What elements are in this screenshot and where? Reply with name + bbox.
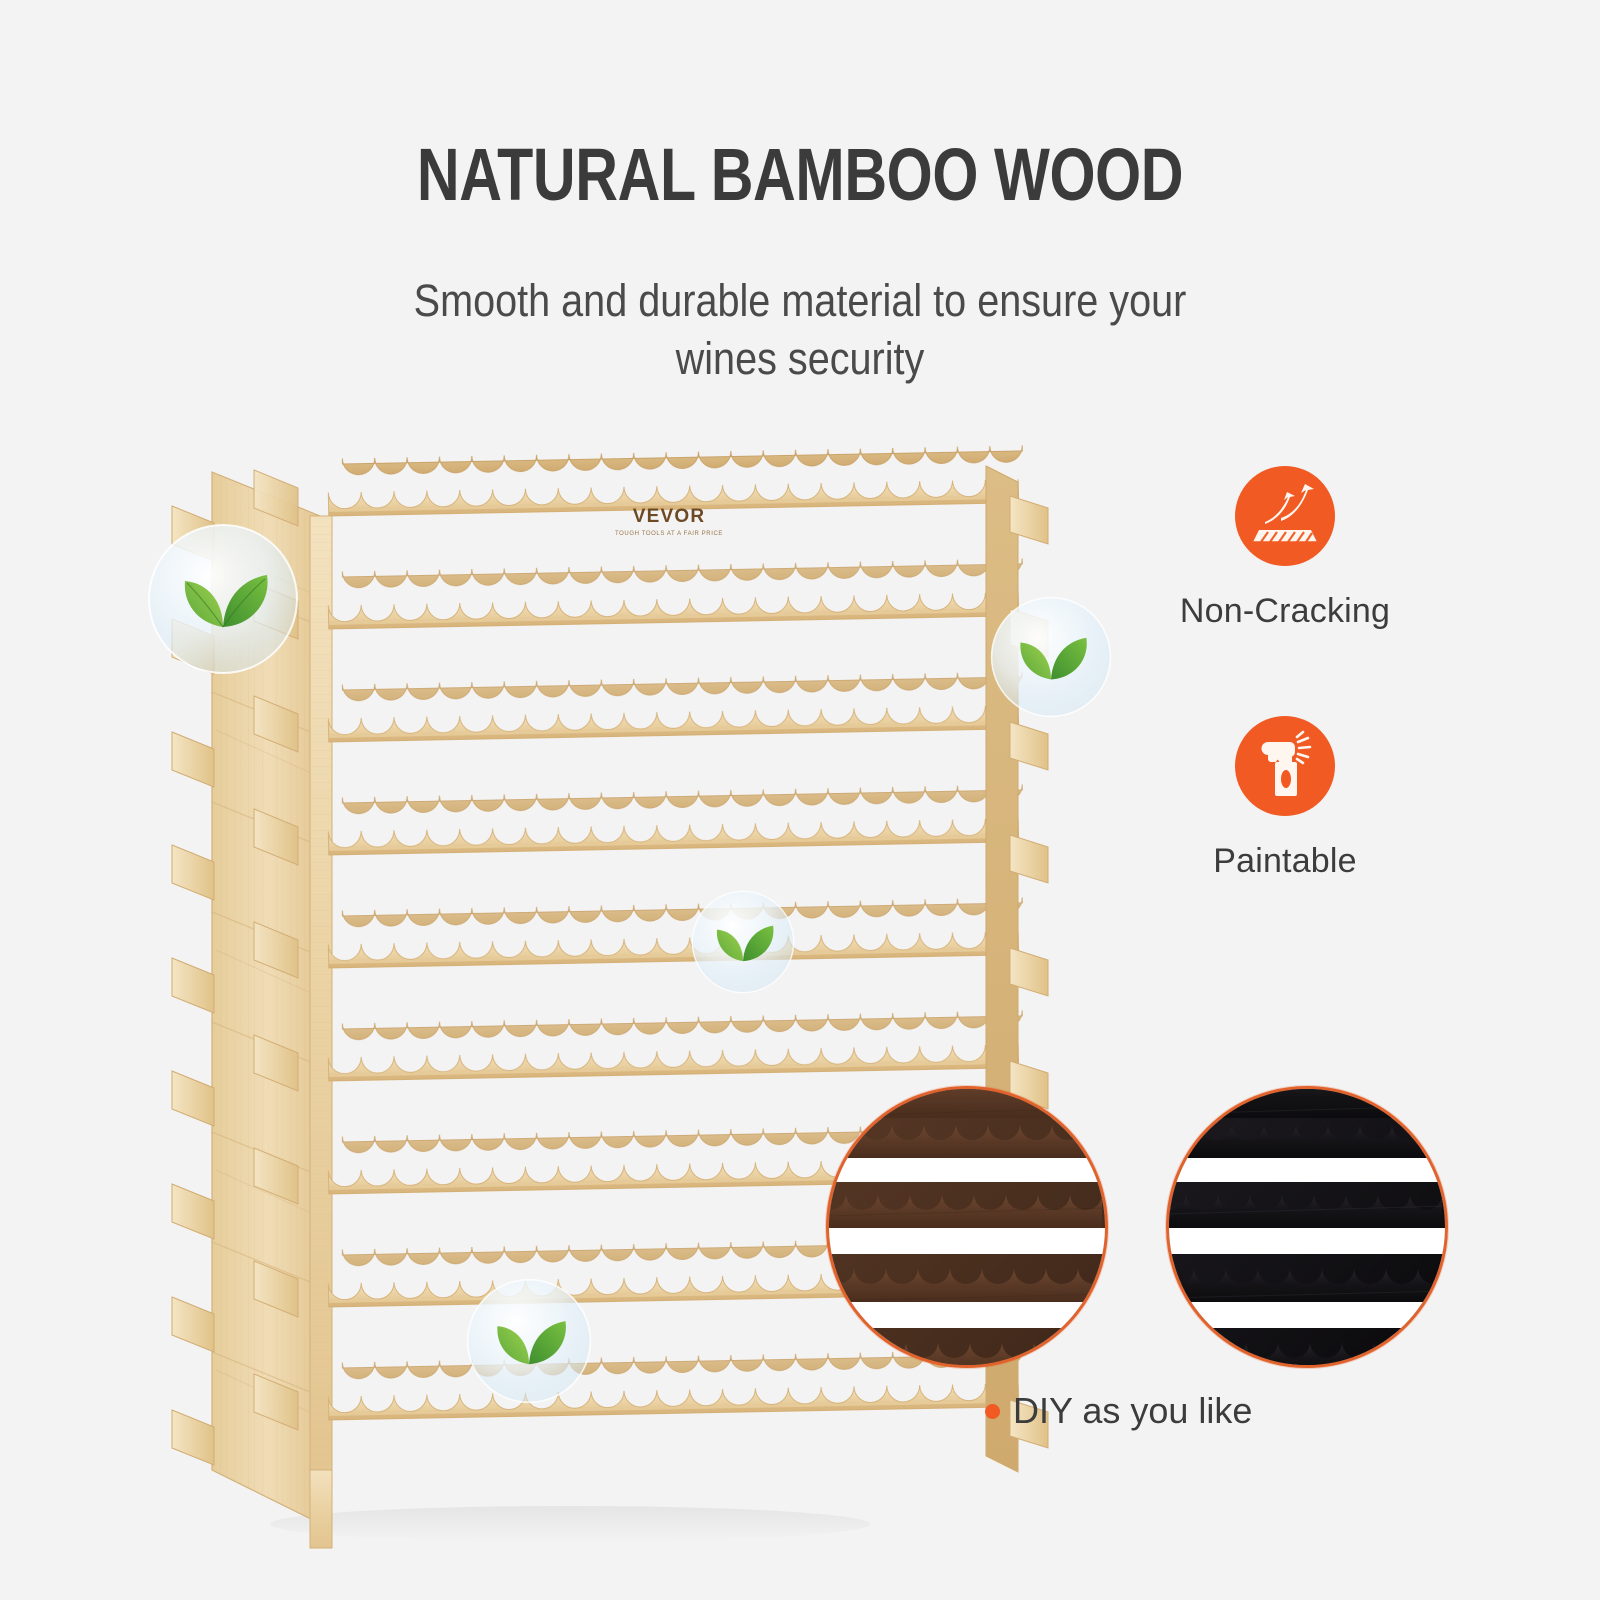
bullet-dot-icon	[985, 1404, 1000, 1419]
brand-name: VEVOR	[633, 506, 706, 527]
rack-shelf-rail	[328, 1044, 1018, 1081]
page-subtitle: Smooth and durable material to ensure yo…	[307, 272, 1293, 387]
subtitle-line-2: wines security	[676, 333, 925, 384]
plank-with-arrows-icon	[1235, 466, 1335, 566]
product-infographic: NATURAL BAMBOO WOOD Smooth and durable m…	[0, 0, 1600, 1600]
leaf-bubble-icon	[990, 596, 1112, 718]
rack-front-left-post	[310, 516, 332, 1528]
rack-back-rail	[342, 558, 1022, 588]
rack-back-rail	[342, 1010, 1022, 1040]
non-cracking-badge	[1235, 466, 1335, 566]
rack-shelf-rail	[328, 931, 1018, 968]
variant-inset-walnut[interactable]	[826, 1086, 1108, 1368]
rack-back-rail	[342, 784, 1022, 814]
feature-paintable: Paintable	[1135, 716, 1435, 881]
feature-non-cracking: Non-Cracking	[1135, 466, 1435, 631]
rack-shelf-rail	[328, 705, 1018, 742]
leaf-bubble-icon	[147, 523, 299, 675]
rack-shelf-rail	[328, 818, 1018, 855]
page-title: NATURAL BAMBOO WOOD	[160, 132, 1440, 217]
variant-inset-black[interactable]	[1166, 1086, 1448, 1368]
rack-back-rail	[342, 445, 1022, 475]
rack-shelf-rail	[328, 592, 1018, 629]
black-rack-closeup	[1166, 1086, 1448, 1368]
walnut-rack-closeup	[826, 1086, 1108, 1368]
subtitle-line-1: Smooth and durable material to ensure yo…	[414, 275, 1187, 326]
rack-front-leg	[310, 1470, 332, 1548]
spray-bottle-icon	[1235, 716, 1335, 816]
diy-caption-text: DIY as you like	[1013, 1390, 1252, 1432]
feature-label: Paintable	[1135, 842, 1435, 881]
diy-caption: DIY as you like	[985, 1390, 1252, 1432]
rack-back-rail	[342, 897, 1022, 927]
brand-tagline: TOUGH TOOLS AT A FAIR PRICE	[615, 531, 723, 537]
rack-back-rail	[342, 671, 1022, 701]
leaf-bubble-icon	[691, 890, 795, 994]
leaf-bubble-icon	[466, 1278, 592, 1404]
paintable-badge	[1235, 716, 1335, 816]
feature-label: Non-Cracking	[1135, 592, 1435, 631]
rack-shelf-rail	[328, 1383, 1018, 1420]
